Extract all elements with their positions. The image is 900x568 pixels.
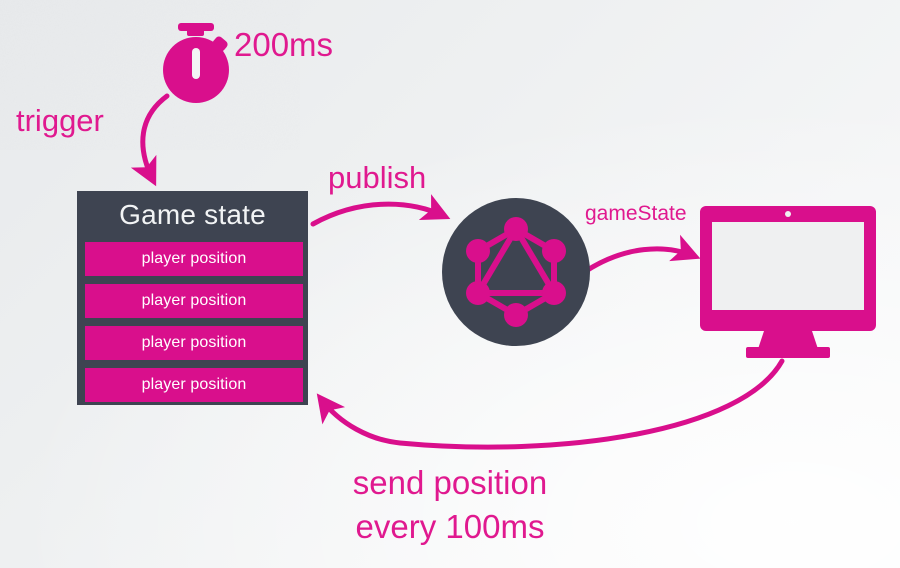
player-position-row: player position: [85, 326, 303, 360]
desktop-monitor-icon: [700, 206, 876, 358]
player-position-list: player position player position player p…: [85, 242, 303, 402]
trigger-arrow-label: trigger: [16, 103, 104, 139]
stopwatch-icon: [163, 23, 229, 103]
trigger-arrow: [143, 96, 167, 180]
game-state-panel: Game state player position player positi…: [77, 191, 308, 405]
send-position-line-1: send position: [0, 461, 900, 505]
send-position-arrow-label: send position every 100ms: [0, 461, 900, 549]
publish-arrow-label: publish: [328, 160, 426, 196]
gamestate-arrow: [586, 249, 694, 271]
diagram-canvas: Game state player position player positi…: [0, 0, 900, 568]
player-position-row: player position: [85, 284, 303, 318]
graphql-logo-icon: [442, 198, 590, 346]
gamestate-arrow-label: gameState: [585, 202, 687, 226]
player-position-row: player position: [85, 368, 303, 402]
timer-duration-label: 200ms: [234, 26, 333, 64]
player-position-row: player position: [85, 242, 303, 276]
send-position-line-2: every 100ms: [0, 505, 900, 549]
send-position-arrow: [321, 361, 782, 447]
publish-arrow: [313, 204, 444, 224]
game-state-title: Game state: [77, 195, 308, 235]
